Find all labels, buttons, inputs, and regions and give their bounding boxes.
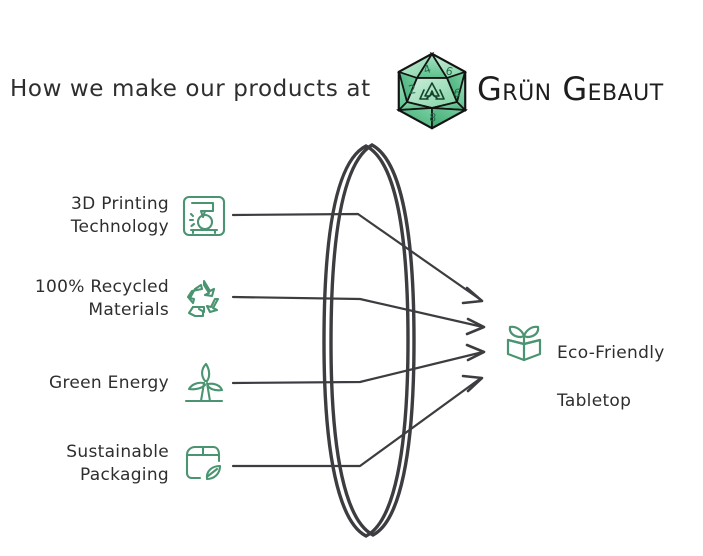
input-row-printing[interactable]: 3D Printing Technology	[0, 185, 228, 247]
connector-packaging	[233, 376, 482, 466]
process-lens-shape	[324, 145, 414, 536]
connector-recycled	[233, 297, 484, 334]
page-title: How we make our products at	[10, 76, 382, 102]
svg-text:8: 8	[429, 111, 437, 124]
d20-die-recycling-icon: 4 6 2 6 8	[391, 50, 473, 132]
output-label: Eco-Friendly Tabletop	[557, 317, 665, 437]
input-row-packaging[interactable]: Sustainable Packaging	[0, 433, 228, 495]
box-leaf-icon	[180, 440, 228, 488]
input-label-recycled: 100% Recycled Materials	[35, 276, 180, 322]
input-label-printing: 3D Printing Technology	[71, 193, 180, 239]
box-sprout-icon	[500, 318, 548, 366]
brand-name: Grün Gebaut	[477, 70, 664, 108]
input-label-energy: Green Energy	[49, 372, 180, 395]
input-row-energy[interactable]: Green Energy	[0, 352, 228, 414]
wind-turbine-icon	[180, 359, 228, 407]
slide-canvas: How we make our products at	[0, 0, 703, 556]
input-label-packaging: Sustainable Packaging	[66, 441, 180, 487]
input-row-recycled[interactable]: 100% Recycled Materials	[0, 268, 228, 330]
3d-printer-icon	[180, 192, 228, 240]
recycling-arrows-icon	[180, 275, 228, 323]
connector-printing	[233, 214, 482, 303]
connector-energy	[233, 345, 484, 383]
